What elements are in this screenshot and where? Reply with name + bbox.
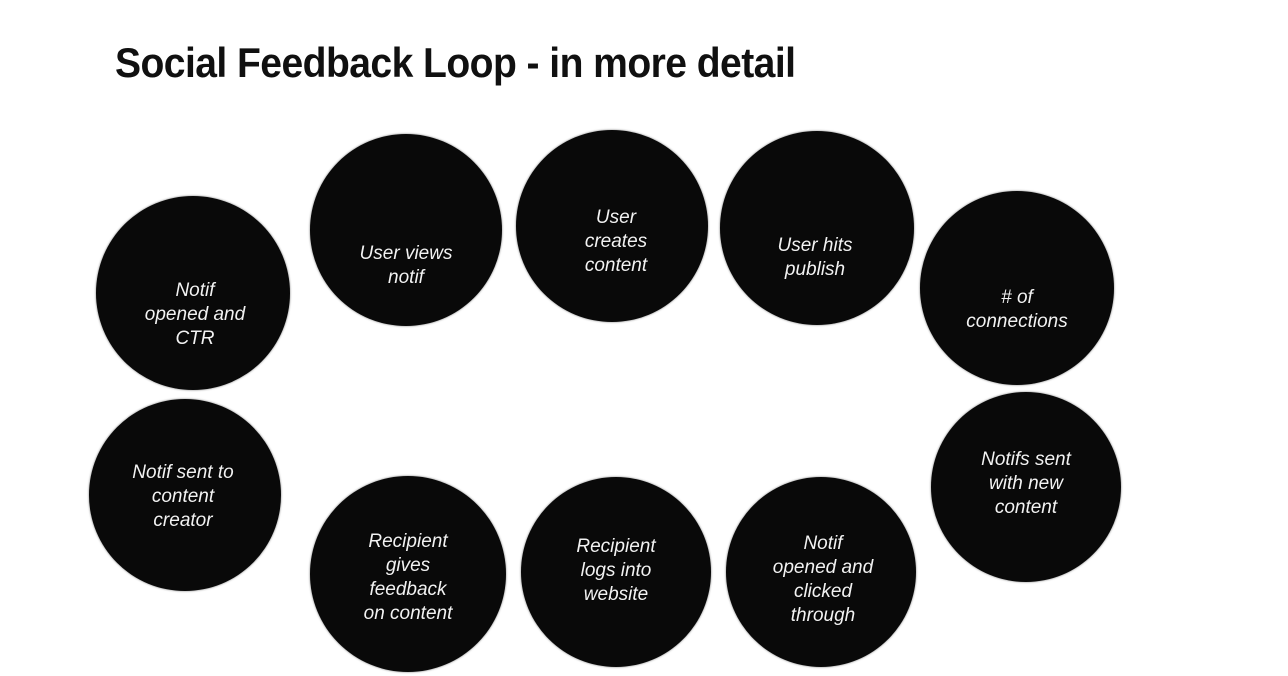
node-label-notifs-sent-with-new-content: Notifs sent with new content <box>971 448 1081 520</box>
node-label-number-of-connections: # of connections <box>956 286 1077 334</box>
node-user-creates-content[interactable]: User creates content <box>516 130 708 322</box>
node-notif-opened-and-ctr[interactable]: Notif opened and CTR <box>96 196 290 390</box>
node-user-hits-publish[interactable]: User hits publish <box>720 131 914 325</box>
node-label-recipient-gives-feedback-on-content: Recipient gives feedback on content <box>354 530 463 626</box>
slide-canvas: Social Feedback Loop - in more detail No… <box>0 0 1288 676</box>
node-recipient-gives-feedback-on-content[interactable]: Recipient gives feedback on content <box>310 476 506 672</box>
node-label-user-views-notif: User views notif <box>350 242 463 290</box>
node-notif-sent-to-content-creator[interactable]: Notif sent to content creator <box>89 399 281 591</box>
node-user-views-notif[interactable]: User views notif <box>310 134 502 326</box>
node-notifs-sent-with-new-content[interactable]: Notifs sent with new content <box>931 392 1121 582</box>
node-label-notif-opened-and-clicked-through: Notif opened and clicked through <box>763 532 883 628</box>
node-label-notif-sent-to-content-creator: Notif sent to content creator <box>122 461 243 533</box>
node-label-user-hits-publish: User hits publish <box>768 234 863 282</box>
node-number-of-connections[interactable]: # of connections <box>920 191 1114 385</box>
node-recipient-logs-into-website[interactable]: Recipient logs into website <box>521 477 711 667</box>
node-label-recipient-logs-into-website: Recipient logs into website <box>566 535 665 607</box>
page-title: Social Feedback Loop - in more detail <box>115 40 795 86</box>
node-label-user-creates-content: User creates content <box>575 206 657 278</box>
node-notif-opened-and-clicked-through[interactable]: Notif opened and clicked through <box>726 477 916 667</box>
node-label-notif-opened-and-ctr: Notif opened and CTR <box>135 279 255 351</box>
